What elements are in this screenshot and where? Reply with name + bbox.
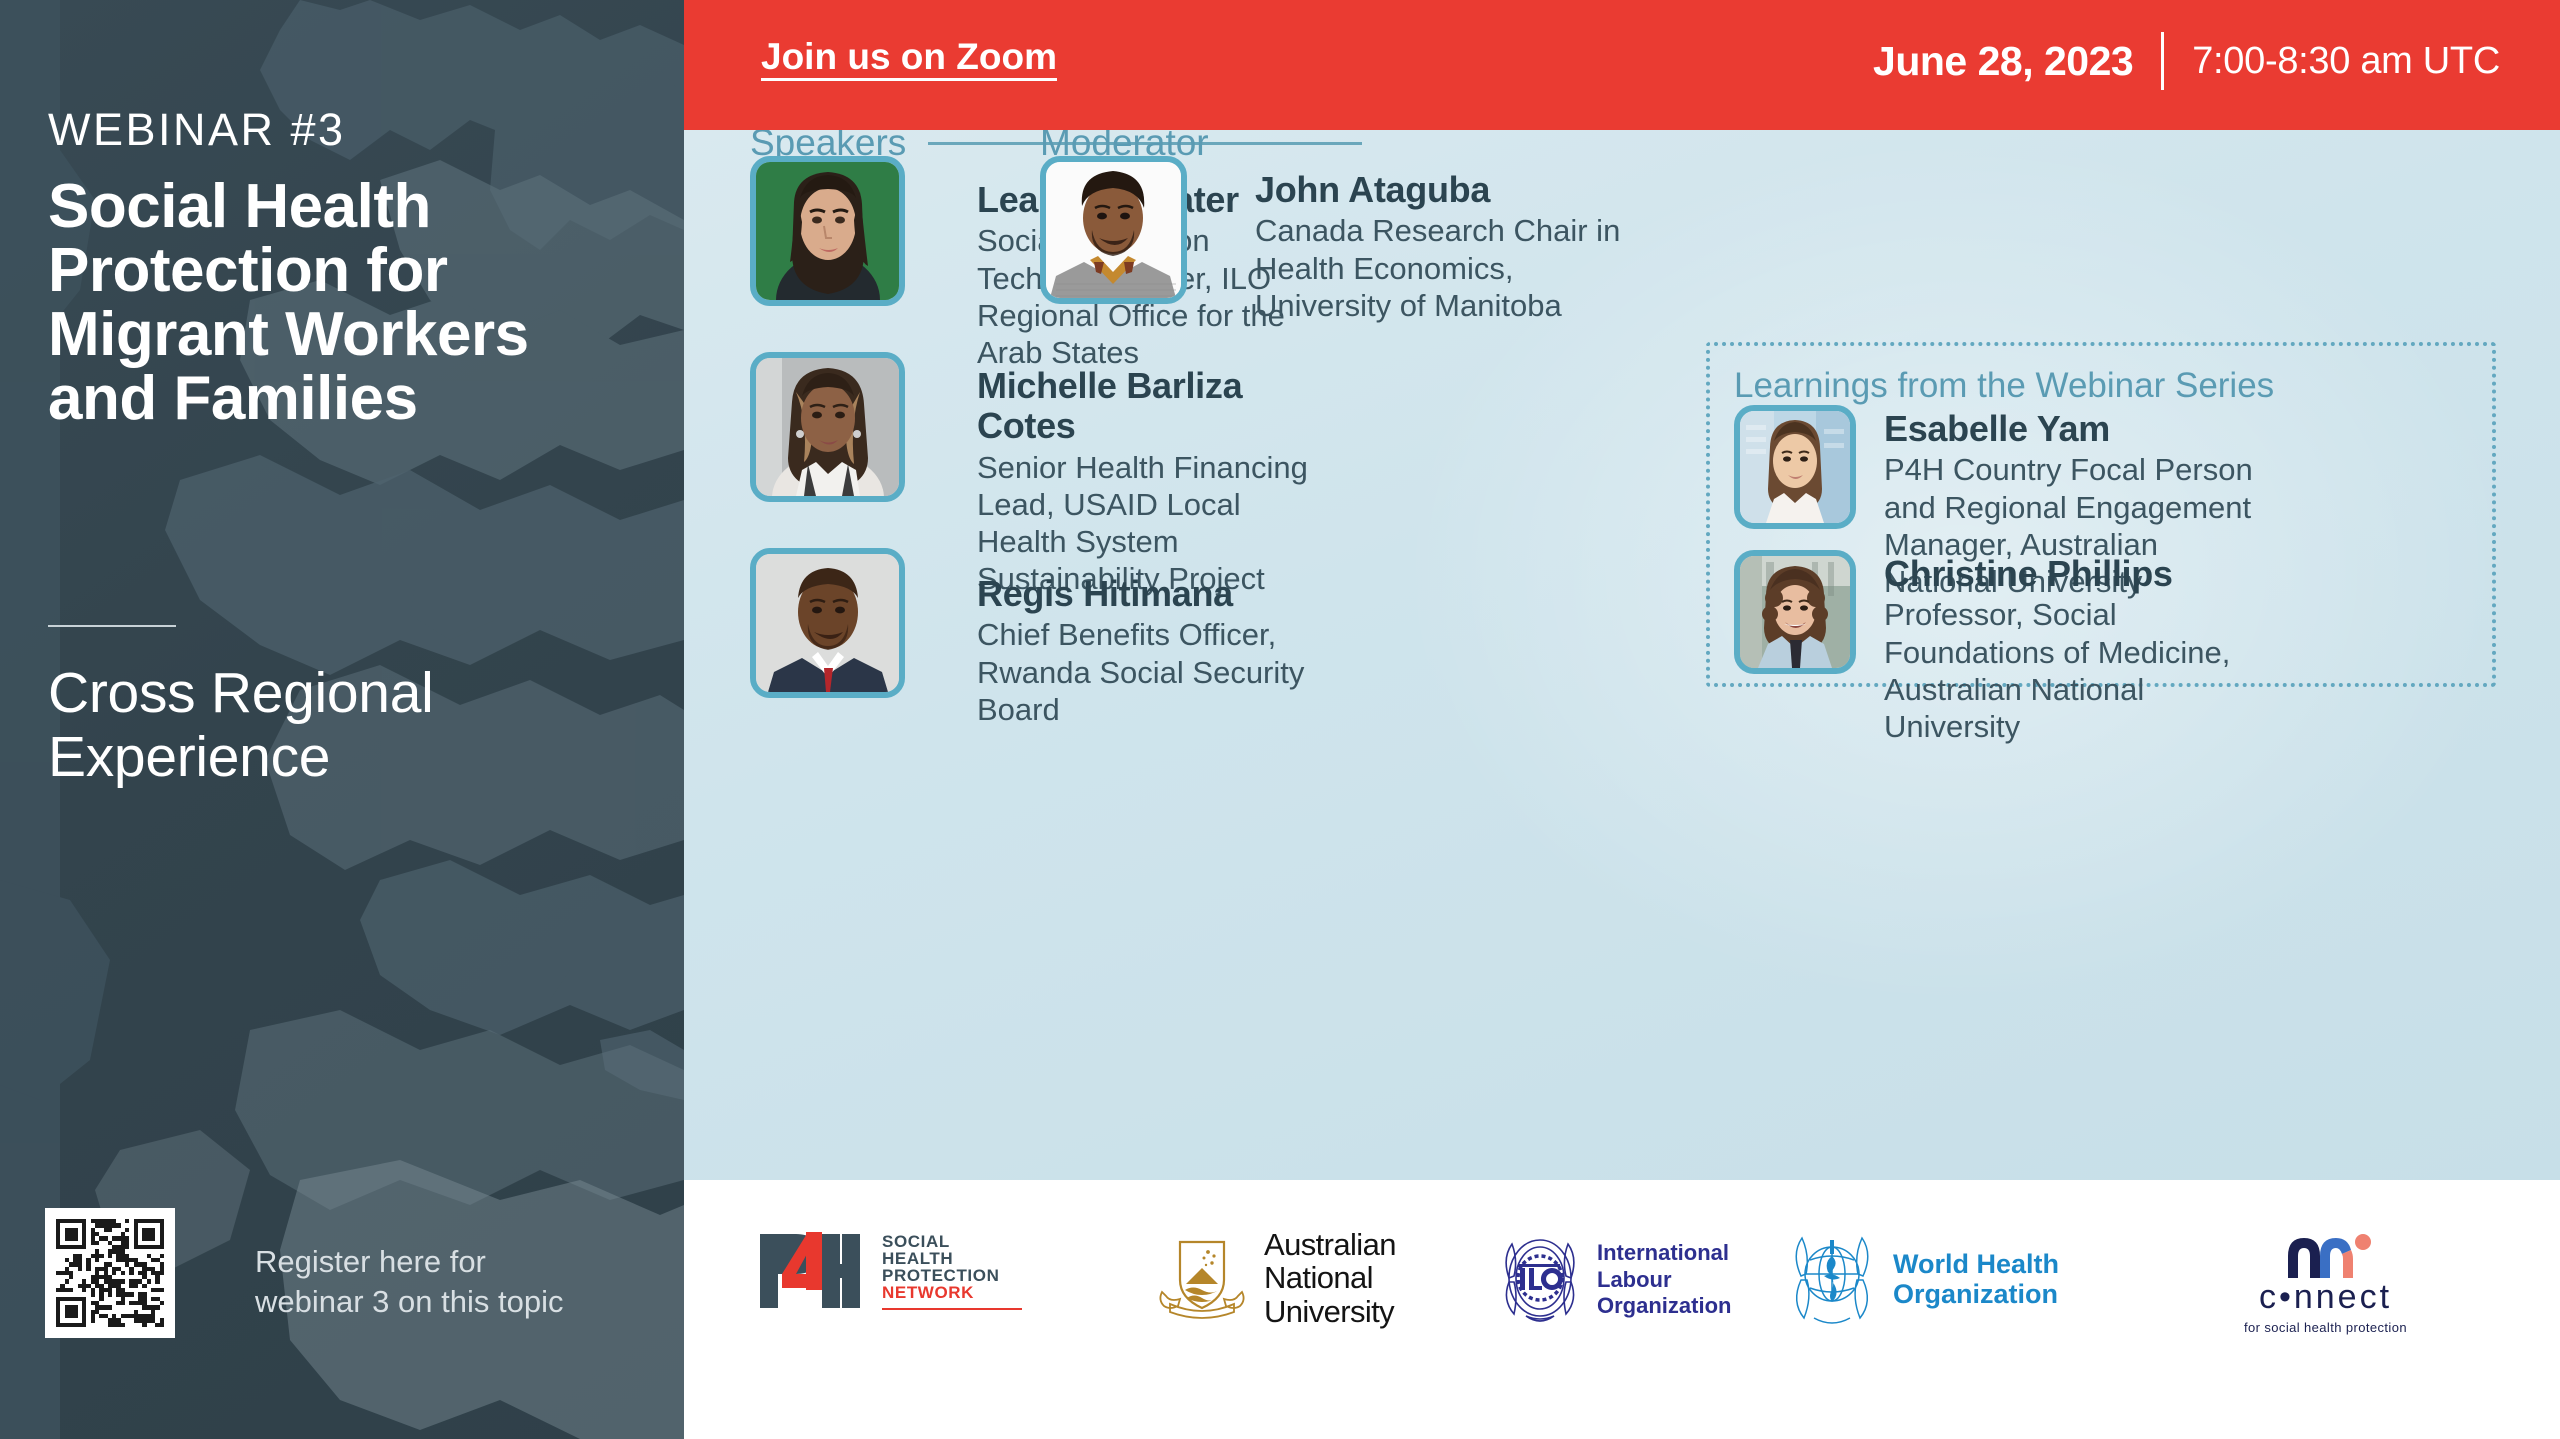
moderator-card: John Ataguba Canada Research Chair in He…	[1040, 156, 1645, 324]
speaker-photo-lea-bou-khater	[750, 156, 905, 306]
who-wordmark: World Health Organization	[1893, 1250, 2059, 1309]
anu-crest-icon	[1156, 1236, 1248, 1320]
p4h-underline	[882, 1308, 1022, 1310]
webinar-poster: WEBINAR #3 Social Health Protection for …	[0, 0, 2560, 1439]
anu-line-2: National	[1264, 1261, 1396, 1294]
connect-mark-icon	[2266, 1228, 2384, 1280]
qr-code[interactable]	[45, 1208, 175, 1338]
event-time: 7:00-8:30 am UTC	[2164, 40, 2500, 83]
speaker-role: Chief Benefits Officer, Rwanda Social Se…	[977, 616, 1317, 728]
ilo-emblem-icon	[1496, 1234, 1584, 1326]
logo-who: World Health Organization	[1784, 1232, 2059, 1328]
logo-anu: Australian National University	[1156, 1228, 1396, 1328]
portrait-john-ataguba	[1046, 162, 1181, 298]
learnings-person-name: Christine Phillips	[1884, 554, 2254, 594]
speaker-card: Regis Hitimana Chief Benefits Officer, R…	[750, 548, 1317, 728]
ilo-wordmark: International Labour Organization	[1597, 1240, 1731, 1320]
portrait-regis-hitimana	[756, 554, 899, 692]
speaker-photo-regis-hitimana	[750, 548, 905, 698]
moderator-photo-john-ataguba	[1040, 156, 1187, 304]
p4h-line-1: SOCIAL	[882, 1233, 1022, 1250]
connect-wordmark: c•nnect	[2259, 1280, 2392, 1314]
logo-connect: c•nnect for social health protection	[2244, 1228, 2407, 1335]
p4h-wordmark: SOCIAL HEALTH PROTECTION NETWORK	[882, 1233, 1022, 1310]
join-zoom-link[interactable]: Join us on Zoom	[761, 36, 1057, 78]
speaker-photo-michelle-barliza-cotes	[750, 352, 905, 502]
anu-wordmark: Australian National University	[1264, 1228, 1396, 1328]
anu-line-1: Australian	[1264, 1228, 1396, 1261]
who-emblem-icon	[1784, 1232, 1880, 1328]
p4h-line-2: HEALTH	[882, 1250, 1022, 1267]
ilo-line-1: International	[1597, 1240, 1731, 1267]
learnings-photo-esabelle-yam	[1734, 405, 1856, 529]
page-title: Social Health Protection for Migrant Wor…	[48, 175, 648, 430]
learnings-label: Learnings from the Webinar Series	[1734, 366, 2274, 406]
anu-line-3: University	[1264, 1295, 1396, 1328]
left-hero-panel: WEBINAR #3 Social Health Protection for …	[0, 0, 684, 1439]
portrait-lea-bou-khater	[756, 162, 899, 300]
title-divider	[48, 625, 176, 627]
logo-ilo: International Labour Organization	[1496, 1234, 1731, 1326]
speaker-name: Michelle Barliza Cotes	[977, 366, 1317, 447]
date-time-group: June 28, 2023 7:00-8:30 am UTC	[1873, 32, 2500, 90]
speaker-name: Regis Hitimana	[977, 574, 1317, 614]
p4h-mark-icon	[756, 1230, 868, 1312]
ilo-line-3: Organization	[1597, 1293, 1731, 1320]
learnings-person-name: Esabelle Yam	[1884, 409, 2254, 449]
portrait-esabelle-yam	[1740, 411, 1850, 523]
portrait-christine-phillips	[1740, 556, 1850, 668]
register-instruction: Register here for webinar 3 on this topi…	[255, 1242, 585, 1321]
ilo-line-2: Labour	[1597, 1267, 1731, 1294]
who-line-2: Organization	[1893, 1280, 2059, 1310]
qr-code-pattern	[56, 1219, 164, 1327]
who-line-1: World Health	[1893, 1250, 2059, 1280]
connect-tagline: for social health protection	[2244, 1320, 2407, 1335]
moderator-role: Canada Research Chair in Health Economic…	[1255, 212, 1645, 324]
webinar-number-kicker: WEBINAR #3	[48, 104, 346, 156]
learnings-person-card: Christine Phillips Professor, Social Fou…	[1734, 550, 2254, 745]
learnings-photo-christine-phillips	[1734, 550, 1856, 674]
page-subtitle: Cross Regional Experience	[48, 662, 648, 790]
p4h-line-4: NETWORK	[882, 1284, 1022, 1301]
portrait-michelle-barliza-cotes	[756, 358, 899, 496]
learnings-person-role: Professor, Social Foundations of Medicin…	[1884, 596, 2254, 745]
p4h-line-3: PROTECTION	[882, 1267, 1022, 1284]
partner-logo-strip: SOCIAL HEALTH PROTECTION NETWORK	[684, 1180, 2560, 1439]
event-date: June 28, 2023	[1873, 38, 2161, 85]
header-bar: Join us on Zoom June 28, 2023 7:00-8:30 …	[684, 0, 2560, 130]
content-panel: Speakers Moderator	[684, 130, 2560, 1180]
logo-p4h: SOCIAL HEALTH PROTECTION NETWORK	[756, 1230, 1022, 1312]
moderator-name: John Ataguba	[1255, 170, 1645, 210]
